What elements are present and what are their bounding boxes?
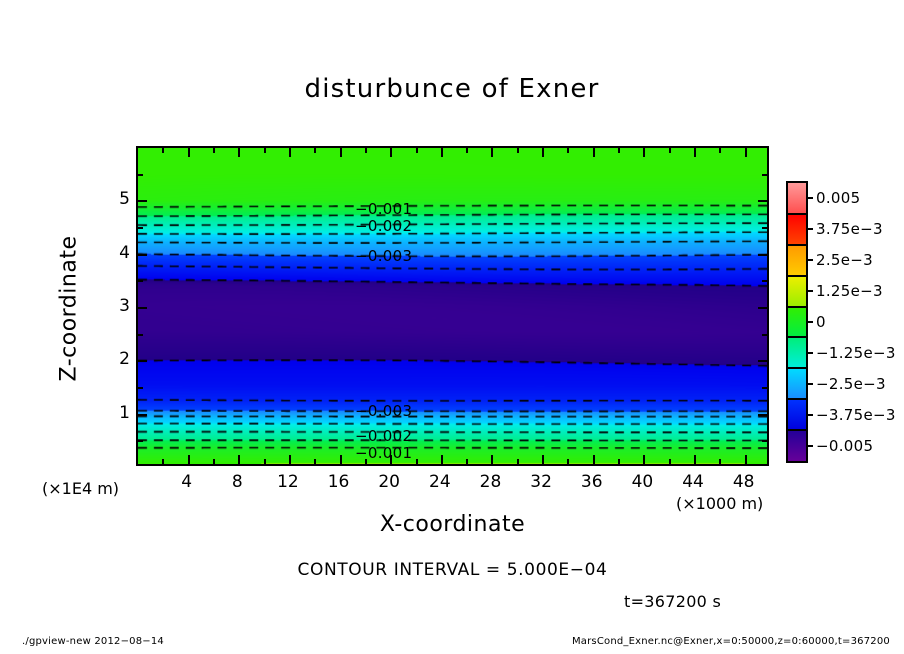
y-axis-tick-labels: 12345 — [78, 146, 130, 466]
colorbar-tick-label: 2.5e−3 — [816, 251, 873, 269]
x-axis-tick — [517, 459, 519, 464]
y-axis-tick-right — [762, 334, 767, 336]
x-axis-tick-top — [669, 148, 671, 153]
x-axis-title: X-coordinate — [136, 512, 769, 537]
colorbar-tick-label: −3.75e−3 — [816, 406, 896, 424]
y-axis-tick-right — [758, 254, 767, 256]
y-axis-tick — [138, 334, 143, 336]
x-axis-tick-label: 48 — [733, 472, 755, 492]
contour-plot-area[interactable] — [136, 146, 769, 466]
x-axis-tick — [745, 455, 747, 464]
x-axis-tick-label: 36 — [581, 472, 603, 492]
colorbar-band — [788, 276, 806, 307]
y-axis-tick-right — [762, 440, 767, 442]
contour-value-label: −0.001 — [355, 444, 412, 462]
x-axis-tick-label: 28 — [480, 472, 502, 492]
colorbar-band-divider — [788, 367, 806, 369]
contour-field-canvas — [138, 148, 767, 464]
x-axis-tick-top — [264, 148, 266, 153]
colorbar-tick — [808, 445, 813, 447]
x-axis-tick — [441, 455, 443, 464]
x-axis-tick-top — [593, 148, 595, 157]
x-axis-tick-top — [694, 148, 696, 157]
colorbar-tick-label: 3.75e−3 — [816, 220, 883, 238]
x-axis-tick-top — [365, 148, 367, 153]
y-axis-tick-right — [758, 360, 767, 362]
y-axis-tick — [138, 440, 143, 442]
x-axis-tick-top — [340, 148, 342, 157]
page-title: disturbunce of Exner — [0, 74, 904, 104]
y-axis-tick — [138, 200, 147, 202]
x-axis-tick-top — [390, 148, 392, 157]
colorbar-tick — [808, 352, 813, 354]
x-axis-tick — [289, 455, 291, 464]
y-axis-tick — [138, 387, 143, 389]
x-axis-tick-label: 20 — [378, 472, 400, 492]
y-axis-tick — [138, 227, 143, 229]
colorbar-band — [788, 245, 806, 276]
x-axis-tick-label: 24 — [429, 472, 451, 492]
contour-value-label: −0.002 — [355, 217, 412, 235]
colorbar-tick — [808, 290, 813, 292]
y-axis-tick-right — [762, 387, 767, 389]
colorbar-band — [788, 430, 806, 461]
x-axis-tick-label: 16 — [328, 472, 350, 492]
x-axis-tick — [669, 459, 671, 464]
x-axis-tick — [416, 459, 418, 464]
x-axis-units: (×1000 m) — [676, 494, 763, 513]
x-axis-tick — [593, 455, 595, 464]
x-axis-tick — [618, 459, 620, 464]
x-axis-tick — [188, 455, 190, 464]
x-axis-tick-top — [618, 148, 620, 153]
colorbar-band-divider — [788, 429, 806, 431]
y-axis-tick-right — [762, 280, 767, 282]
colorbar-band — [788, 368, 806, 399]
x-axis-tick — [542, 455, 544, 464]
colorbar-band-divider — [788, 213, 806, 215]
y-axis-tick-right — [758, 307, 767, 309]
colorbar-tick-label: −1.25e−3 — [816, 344, 896, 362]
y-axis-tick-label: 4 — [90, 243, 130, 263]
x-axis-tick — [314, 459, 316, 464]
y-axis-units: (×1E4 m) — [42, 479, 119, 498]
x-axis-tick-top — [643, 148, 645, 157]
x-axis-tick — [162, 459, 164, 464]
colorbar-tick — [808, 259, 813, 261]
colorbar-band-divider — [788, 336, 806, 338]
contour-value-label: −0.003 — [355, 247, 412, 265]
y-axis-tick-right — [758, 200, 767, 202]
x-axis-tick-top — [567, 148, 569, 153]
colorbar-tick-label: −2.5e−3 — [816, 375, 886, 393]
y-axis-tick-right — [762, 174, 767, 176]
contour-value-label: −0.003 — [355, 402, 412, 420]
y-axis-tick — [138, 254, 147, 256]
x-axis-tick-top — [188, 148, 190, 157]
colorbar-band — [788, 307, 806, 338]
colorbar-tick-label: 0 — [816, 313, 826, 331]
x-axis-tick — [694, 455, 696, 464]
y-axis-tick — [138, 414, 147, 416]
colorbar-tick — [808, 197, 813, 199]
x-axis-tick-top — [441, 148, 443, 157]
x-axis-tick-top — [416, 148, 418, 153]
footer-command: ./gpview-new 2012−08−14 — [22, 636, 164, 647]
y-axis-tick — [138, 307, 147, 309]
colorbar-band — [788, 183, 806, 214]
y-axis-tick-right — [762, 227, 767, 229]
x-axis-tick-label: 12 — [277, 472, 299, 492]
x-axis-tick-top — [162, 148, 164, 153]
x-axis-tick — [238, 455, 240, 464]
colorbar-tick-label: 1.25e−3 — [816, 282, 883, 300]
footer-dataset-path: MarsCond_Exner.nc@Exner,x=0:50000,z=0:60… — [572, 636, 890, 647]
x-axis-tick — [264, 459, 266, 464]
colorbar-band — [788, 399, 806, 430]
x-axis-tick-label: 8 — [232, 472, 243, 492]
y-axis-tick-label: 2 — [90, 349, 130, 369]
y-axis-tick-label: 5 — [90, 189, 130, 209]
colorbar-band-divider — [788, 275, 806, 277]
x-axis-tick-top — [542, 148, 544, 157]
x-axis-tick — [643, 455, 645, 464]
colorbar-gradient — [786, 181, 808, 463]
x-axis-tick — [213, 459, 215, 464]
y-axis-tick-label: 1 — [90, 403, 130, 423]
x-axis-tick — [466, 459, 468, 464]
colorbar-tick — [808, 414, 813, 416]
x-axis-tick-top — [289, 148, 291, 157]
colorbar-band-divider — [788, 306, 806, 308]
x-axis-tick-label: 44 — [682, 472, 704, 492]
x-axis-tick — [340, 455, 342, 464]
y-axis-title: Z-coordinate — [57, 179, 82, 439]
y-axis-tick — [138, 360, 147, 362]
colorbar-band — [788, 214, 806, 245]
y-axis-tick-label: 3 — [90, 296, 130, 316]
x-axis-tick-top — [238, 148, 240, 157]
colorbar-band-divider — [788, 244, 806, 246]
colorbar[interactable]: 0.0053.75e−32.5e−31.25e−30−1.25e−3−2.5e−… — [786, 181, 808, 463]
colorbar-tick-label: 0.005 — [816, 189, 860, 207]
x-axis-tick-top — [745, 148, 747, 157]
time-stamp: t=367200 s — [624, 592, 721, 611]
x-axis-tick — [719, 459, 721, 464]
x-axis-tick-label: 32 — [530, 472, 552, 492]
contour-interval-note: CONTOUR INTERVAL = 5.000E−04 — [136, 560, 769, 580]
colorbar-tick — [808, 321, 813, 323]
y-axis-tick — [138, 174, 143, 176]
y-axis-tick-right — [758, 414, 767, 416]
contour-value-label: −0.002 — [355, 427, 412, 445]
x-axis-tick-top — [719, 148, 721, 153]
x-axis-tick-label: 4 — [181, 472, 192, 492]
x-axis-tick-top — [466, 148, 468, 153]
colorbar-tick — [808, 383, 813, 385]
colorbar-tick — [808, 228, 813, 230]
colorbar-tick-label: −0.005 — [816, 437, 873, 455]
x-axis-tick-label: 40 — [632, 472, 654, 492]
x-axis-tick-top — [213, 148, 215, 153]
colorbar-band-divider — [788, 398, 806, 400]
x-axis-tick-top — [491, 148, 493, 157]
x-axis-tick — [567, 459, 569, 464]
contour-value-label: −0.001 — [355, 200, 412, 218]
colorbar-band — [788, 337, 806, 368]
x-axis-tick-top — [517, 148, 519, 153]
y-axis-tick — [138, 280, 143, 282]
x-axis-tick — [491, 455, 493, 464]
x-axis-tick-top — [314, 148, 316, 153]
